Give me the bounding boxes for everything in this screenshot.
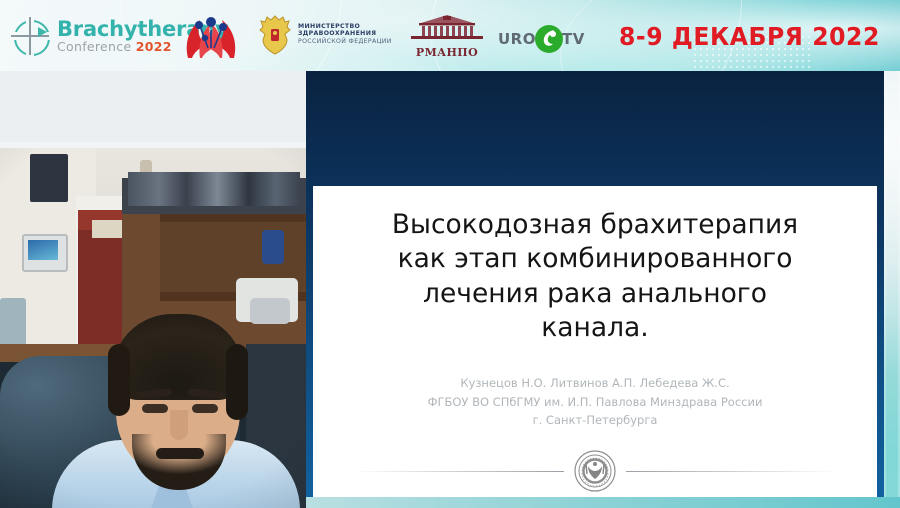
ministry-line-3: РОССИЙСКОЙ ФЕДЕРАЦИИ (298, 38, 392, 45)
slide-title-line: канала. (347, 311, 843, 345)
slide-title-line: Высокодозная брахитерапия (347, 208, 843, 242)
conference-year: 2022 (136, 39, 172, 54)
conference-header-banner: Brachytherapy Conference 2022 (0, 0, 900, 71)
divider-line-left (353, 471, 564, 472)
slide-title-line: как этап комбинированного (347, 242, 843, 276)
speaker-webcam-feed[interactable]: ович (0, 148, 306, 508)
slide-title-line: лечения рака анального (347, 277, 843, 311)
slide-authors-block: Кузнецов Н.О. Литвинов А.П. Лебедева Ж.С… (347, 374, 843, 430)
urotv-logo: URO TV (498, 24, 585, 54)
slide-authors: Кузнецов Н.О. Литвинов А.П. Лебедева Ж.С… (347, 374, 843, 393)
uro-word: URO (498, 30, 536, 48)
urotv-leaf-circle-icon (534, 24, 564, 54)
slide-institution: ФГБОУ ВО СПбГМУ им. И.П. Павлова Минздра… (347, 393, 843, 412)
rmanpo-logo: РМАНПО (405, 14, 489, 59)
divider-line-right (626, 471, 837, 472)
bottom-teal-band (306, 497, 900, 508)
conference-word: Conference (57, 39, 136, 54)
target-crosshair-icon (10, 16, 50, 56)
slide-title: Высокодозная брахитерапия как этап комби… (347, 208, 843, 346)
rmanpo-name: РМАНПО (405, 46, 489, 59)
presentation-area: Высокодозная брахитерапия как этап комби… (306, 71, 900, 508)
ministry-line-2: ЗДРАВООХРАНЕНИЯ (298, 30, 392, 37)
ministry-line-1: МИНИСТЕРСТВО (298, 23, 392, 30)
screen-capture: Brachytherapy Conference 2022 (0, 0, 900, 508)
conference-date: 8-9 ДЕКАБРЯ 2022 (619, 22, 880, 51)
classical-building-icon (409, 14, 485, 40)
slide-content-panel: Высокодозная брахитерапия как этап комби… (313, 186, 877, 497)
slide-emblem-row (353, 448, 837, 494)
slide-city: г. Санкт-Петербурга (347, 411, 843, 430)
ministry-of-health-logo: МИНИСТЕРСТВО ЗДРАВООХРАНЕНИЯ РОССИЙСКОЙ … (258, 13, 392, 55)
russian-oncology-flame-icon (178, 14, 244, 60)
tv-word: TV (562, 30, 585, 48)
russian-coat-of-arms-icon (258, 13, 292, 55)
pavlov-university-emblem-icon (574, 450, 616, 492)
presentation-slide[interactable]: Высокодозная брахитерапия как этап комби… (306, 71, 884, 497)
